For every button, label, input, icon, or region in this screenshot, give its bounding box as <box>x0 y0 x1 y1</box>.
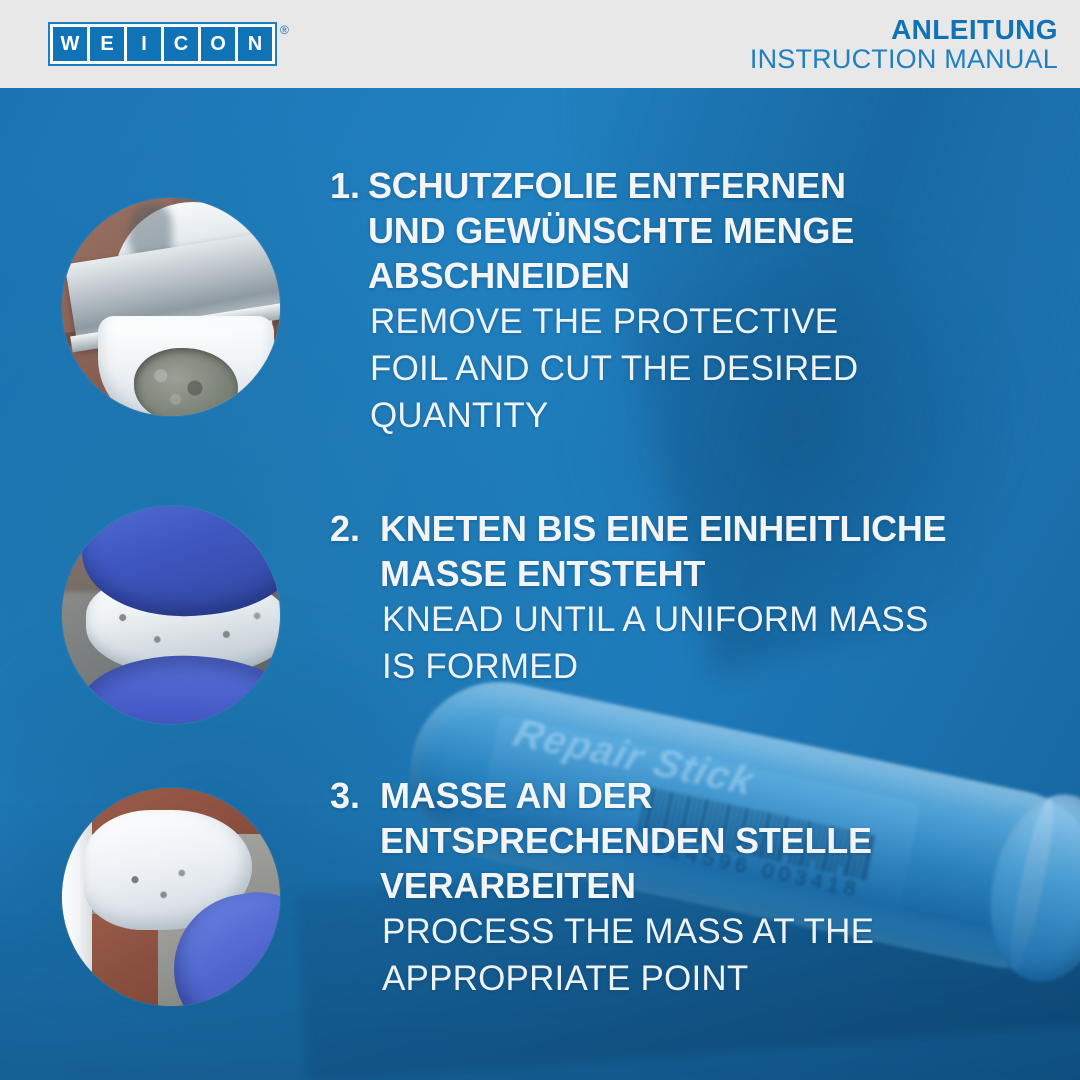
logo-letter-e: E <box>90 27 124 61</box>
step-2-de-block: 2. KNETEN BIS EINE EINHEITLICHE MASSE EN… <box>330 506 946 596</box>
step-1-number: 1. <box>330 163 360 208</box>
step-2-de-line-1: KNETEN BIS EINE EINHEITLICHE <box>380 506 946 551</box>
step-2-en-line-1: KNEAD UNTIL A UNIFORM MASS <box>382 596 946 643</box>
step-3-de-line-3: VERARBEITEN <box>380 863 874 908</box>
step-1-de-block: 1. SCHUTZFOLIE ENTFERNEN UND GEWÜNSCHTE … <box>330 163 858 298</box>
step-3-en-block: PROCESS THE MASS AT THE APPROPRIATE POIN… <box>330 908 874 1002</box>
logo-letter-i: I <box>127 27 161 61</box>
photo-cutting-putty-stick <box>62 198 280 416</box>
logo-letter-w: W <box>53 27 87 61</box>
step-1-en-block: REMOVE THE PROTECTIVE FOIL AND CUT THE D… <box>330 298 858 439</box>
step-1-de-line-2: UND GEWÜNSCHTE MENGE <box>368 208 858 253</box>
step-2-photo <box>62 506 280 724</box>
step-3-de-line-1: MASSE AN DER <box>380 773 874 818</box>
step-3-en-line-2: APPROPRIATE POINT <box>382 955 874 1002</box>
instruction-manual-page: W E I C O N ® ANLEITUNG INSTRUCTION MANU… <box>0 0 1080 1080</box>
header-title-group: ANLEITUNG INSTRUCTION MANUAL <box>750 15 1058 73</box>
step-3-text: 3. MASSE AN DER ENTSPRECHENDEN STELLE VE… <box>330 773 874 1002</box>
page-header: W E I C O N ® ANLEITUNG INSTRUCTION MANU… <box>0 0 1080 88</box>
step-2-en-line-2: IS FORMED <box>382 643 946 690</box>
step-1-en-line-2: FOIL AND CUT THE DESIRED <box>370 345 858 392</box>
instruction-body: Repair Stick 4 024596 003418 <box>0 88 1080 1080</box>
logo-letter-c: C <box>164 27 198 61</box>
step-3-number: 3. <box>330 773 360 818</box>
photo-applying-putty <box>62 788 280 1006</box>
step-3-de-block: 3. MASSE AN DER ENTSPRECHENDEN STELLE VE… <box>330 773 874 908</box>
logo-letter-boxes: W E I C O N <box>48 22 277 66</box>
photo-kneading-putty <box>62 506 280 724</box>
logo-letter-o: O <box>201 27 235 61</box>
step-1-en-line-1: REMOVE THE PROTECTIVE <box>370 298 858 345</box>
step-1-de-line-1: SCHUTZFOLIE ENTFERNEN <box>368 163 858 208</box>
steps-list: 1. SCHUTZFOLIE ENTFERNEN UND GEWÜNSCHTE … <box>0 88 1080 1080</box>
page-title-de: ANLEITUNG <box>750 15 1058 44</box>
step-1-text: 1. SCHUTZFOLIE ENTFERNEN UND GEWÜNSCHTE … <box>330 163 858 439</box>
step-1-de-line-3: ABSCHNEIDEN <box>368 253 858 298</box>
step-3-photo <box>62 788 280 1006</box>
weicon-logo[interactable]: W E I C O N ® <box>48 22 289 66</box>
step-2-en-block: KNEAD UNTIL A UNIFORM MASS IS FORMED <box>330 596 946 690</box>
page-title-en: INSTRUCTION MANUAL <box>750 45 1058 73</box>
registered-trademark-icon: ® <box>280 23 289 37</box>
step-3-en-line-1: PROCESS THE MASS AT THE <box>382 908 874 955</box>
logo-letter-n: N <box>238 27 272 61</box>
step-2-de-line-2: MASSE ENTSTEHT <box>380 551 946 596</box>
step-2-text: 2. KNETEN BIS EINE EINHEITLICHE MASSE EN… <box>330 506 946 690</box>
step-1-photo <box>62 198 280 416</box>
step-2-number: 2. <box>330 506 360 551</box>
step-3-de-line-2: ENTSPRECHENDEN STELLE <box>380 818 874 863</box>
step-1-en-line-3: QUANTITY <box>370 392 858 439</box>
